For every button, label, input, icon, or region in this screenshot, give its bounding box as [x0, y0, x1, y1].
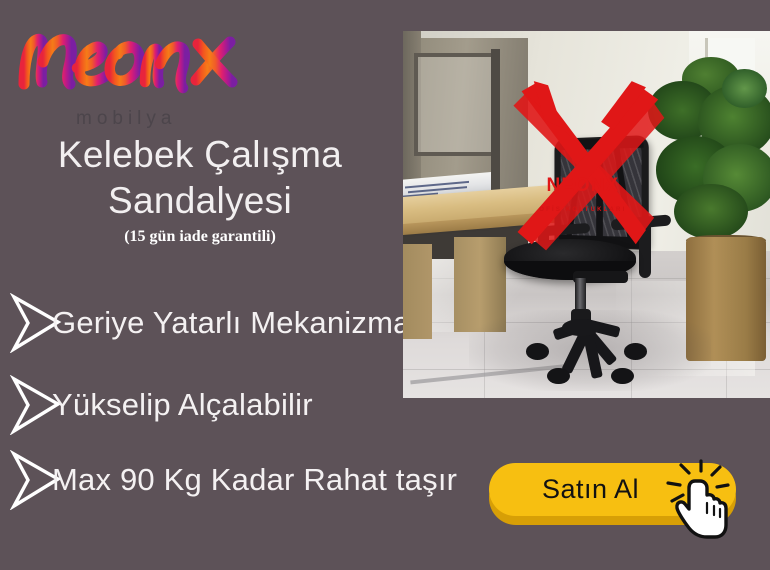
feature-label: Yükselip Alçalabilir: [52, 387, 313, 423]
page-title: Kelebek Çalışma Sandalyesi: [0, 132, 400, 223]
feature-item: Max 90 Kg Kadar Rahat taşır: [6, 450, 457, 510]
brand-logo: mobilya: [14, 22, 274, 122]
divider-window-frame: [414, 53, 495, 156]
cta-area: Satın Al: [489, 463, 736, 525]
chair-base-hub: [562, 319, 600, 336]
feature-item: Yükselip Alçalabilir: [6, 375, 313, 435]
advertisement-banner: mobilya Kelebek Çalışma Sandalyesi (15 g…: [0, 0, 770, 570]
brand-tagline: mobilya: [76, 108, 176, 130]
watermark-title: NEONX: [491, 175, 675, 197]
neonx-wordmark-icon: [14, 22, 254, 94]
headline-line-1: Kelebek Çalışma: [0, 132, 400, 178]
feature-item: Geriye Yatarlı Mekanizma: [6, 293, 411, 353]
guarantee-note: (15 gün iade garantili): [0, 228, 400, 246]
product-image: NEONX OFİS KOLTUKLARI: [403, 31, 770, 398]
watermark-subtitle: OFİS KOLTUKLARI: [491, 207, 675, 213]
watermark: NEONX OFİS KOLTUKLARI: [491, 75, 675, 288]
desk-leg: [403, 244, 432, 339]
buy-now-label: Satın Al: [542, 474, 639, 505]
chair-caster: [624, 343, 647, 360]
buy-now-button[interactable]: Satın Al: [489, 463, 736, 516]
chair-caster: [526, 343, 549, 360]
feature-label: Max 90 Kg Kadar Rahat taşır: [52, 462, 457, 498]
headline-line-2: Sandalyesi: [0, 178, 400, 224]
feature-label: Geriye Yatarlı Mekanizma: [52, 305, 411, 341]
red-x-brush-icon: [491, 75, 675, 259]
